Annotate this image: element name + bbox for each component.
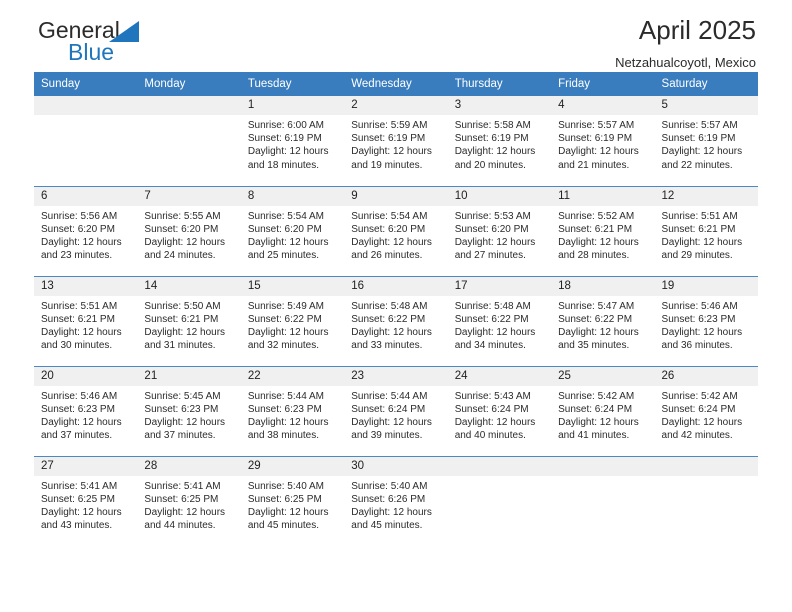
sunrise-text: Sunrise: 5:45 AM bbox=[144, 390, 234, 403]
calendar-day-cell[interactable]: 27Sunrise: 5:41 AMSunset: 6:25 PMDayligh… bbox=[34, 456, 137, 546]
sunset-text: Sunset: 6:24 PM bbox=[351, 403, 441, 416]
day-number: 4 bbox=[551, 96, 654, 115]
daylight-text: Daylight: 12 hours and 27 minutes. bbox=[455, 236, 545, 262]
calendar-day-cell-empty bbox=[448, 456, 551, 546]
calendar-week-row: 1Sunrise: 6:00 AMSunset: 6:19 PMDaylight… bbox=[34, 96, 758, 186]
calendar-day-cell[interactable]: 30Sunrise: 5:40 AMSunset: 6:26 PMDayligh… bbox=[344, 456, 447, 546]
day-number: 7 bbox=[137, 187, 240, 206]
sunset-text: Sunset: 6:19 PM bbox=[351, 132, 441, 145]
sunset-text: Sunset: 6:20 PM bbox=[248, 223, 338, 236]
calendar-day-cell-empty bbox=[34, 96, 137, 186]
daylight-text: Daylight: 12 hours and 26 minutes. bbox=[351, 236, 441, 262]
calendar-day-cell[interactable]: 22Sunrise: 5:44 AMSunset: 6:23 PMDayligh… bbox=[241, 366, 344, 456]
sunrise-text: Sunrise: 5:56 AM bbox=[41, 210, 131, 223]
daylight-text: Daylight: 12 hours and 45 minutes. bbox=[351, 506, 441, 532]
day-details: Sunrise: 5:44 AMSunset: 6:24 PMDaylight:… bbox=[344, 386, 447, 443]
sunrise-text: Sunrise: 5:44 AM bbox=[248, 390, 338, 403]
sunrise-text: Sunrise: 5:46 AM bbox=[662, 300, 752, 313]
sunset-text: Sunset: 6:23 PM bbox=[144, 403, 234, 416]
daylight-text: Daylight: 12 hours and 21 minutes. bbox=[558, 145, 648, 171]
day-number: 2 bbox=[344, 96, 447, 115]
daylight-text: Daylight: 12 hours and 41 minutes. bbox=[558, 416, 648, 442]
sunset-text: Sunset: 6:21 PM bbox=[41, 313, 131, 326]
day-details: Sunrise: 5:49 AMSunset: 6:22 PMDaylight:… bbox=[241, 296, 344, 353]
sunrise-text: Sunrise: 5:41 AM bbox=[144, 480, 234, 493]
calendar-week-row: 27Sunrise: 5:41 AMSunset: 6:25 PMDayligh… bbox=[34, 456, 758, 546]
weekday-header-wednesday: Wednesday bbox=[344, 72, 447, 96]
weekday-header-thursday: Thursday bbox=[448, 72, 551, 96]
calendar-header-row: Sunday Monday Tuesday Wednesday Thursday… bbox=[34, 72, 758, 96]
sunrise-text: Sunrise: 5:57 AM bbox=[662, 119, 752, 132]
day-details: Sunrise: 5:46 AMSunset: 6:23 PMDaylight:… bbox=[655, 296, 758, 353]
day-details: Sunrise: 5:57 AMSunset: 6:19 PMDaylight:… bbox=[655, 115, 758, 172]
weekday-header-monday: Monday bbox=[137, 72, 240, 96]
blue-triangle-flag-icon bbox=[109, 21, 139, 42]
calendar-day-cell-empty bbox=[655, 456, 758, 546]
page-header: General Blue April 2025 Netzahualcoyotl,… bbox=[34, 0, 758, 72]
weekday-header-friday: Friday bbox=[551, 72, 654, 96]
calendar-day-cell[interactable]: 23Sunrise: 5:44 AMSunset: 6:24 PMDayligh… bbox=[344, 366, 447, 456]
day-number: 1 bbox=[241, 96, 344, 115]
day-number: 14 bbox=[137, 277, 240, 296]
daylight-text: Daylight: 12 hours and 31 minutes. bbox=[144, 326, 234, 352]
day-details: Sunrise: 5:47 AMSunset: 6:22 PMDaylight:… bbox=[551, 296, 654, 353]
day-number: 29 bbox=[241, 457, 344, 476]
daylight-text: Daylight: 12 hours and 37 minutes. bbox=[41, 416, 131, 442]
calendar-day-cell[interactable]: 3Sunrise: 5:58 AMSunset: 6:19 PMDaylight… bbox=[448, 96, 551, 186]
sunrise-text: Sunrise: 5:47 AM bbox=[558, 300, 648, 313]
day-number: 16 bbox=[344, 277, 447, 296]
sunset-text: Sunset: 6:21 PM bbox=[558, 223, 648, 236]
day-details: Sunrise: 5:42 AMSunset: 6:24 PMDaylight:… bbox=[551, 386, 654, 443]
daylight-text: Daylight: 12 hours and 44 minutes. bbox=[144, 506, 234, 532]
day-details: Sunrise: 5:44 AMSunset: 6:23 PMDaylight:… bbox=[241, 386, 344, 443]
day-details: Sunrise: 5:40 AMSunset: 6:26 PMDaylight:… bbox=[344, 476, 447, 533]
sunset-text: Sunset: 6:23 PM bbox=[41, 403, 131, 416]
day-number: 25 bbox=[551, 367, 654, 386]
sunrise-text: Sunrise: 5:48 AM bbox=[455, 300, 545, 313]
sunset-text: Sunset: 6:24 PM bbox=[455, 403, 545, 416]
calendar-day-cell-empty bbox=[137, 96, 240, 186]
sunrise-text: Sunrise: 5:57 AM bbox=[558, 119, 648, 132]
sunrise-text: Sunrise: 5:49 AM bbox=[248, 300, 338, 313]
day-details: Sunrise: 5:41 AMSunset: 6:25 PMDaylight:… bbox=[34, 476, 137, 533]
day-number: 22 bbox=[241, 367, 344, 386]
day-number: 24 bbox=[448, 367, 551, 386]
page-title: April 2025 bbox=[615, 14, 756, 46]
sunset-text: Sunset: 6:21 PM bbox=[662, 223, 752, 236]
day-details: Sunrise: 5:51 AMSunset: 6:21 PMDaylight:… bbox=[34, 296, 137, 353]
calendar-day-cell[interactable]: 4Sunrise: 5:57 AMSunset: 6:19 PMDaylight… bbox=[551, 96, 654, 186]
sunrise-text: Sunrise: 5:55 AM bbox=[144, 210, 234, 223]
calendar-day-cell[interactable]: 12Sunrise: 5:51 AMSunset: 6:21 PMDayligh… bbox=[655, 186, 758, 276]
sunset-text: Sunset: 6:23 PM bbox=[662, 313, 752, 326]
day-details: Sunrise: 5:59 AMSunset: 6:19 PMDaylight:… bbox=[344, 115, 447, 172]
calendar-day-cell[interactable]: 17Sunrise: 5:48 AMSunset: 6:22 PMDayligh… bbox=[448, 276, 551, 366]
calendar-day-cell[interactable]: 9Sunrise: 5:54 AMSunset: 6:20 PMDaylight… bbox=[344, 186, 447, 276]
daylight-text: Daylight: 12 hours and 35 minutes. bbox=[558, 326, 648, 352]
day-number: 8 bbox=[241, 187, 344, 206]
daylight-text: Daylight: 12 hours and 39 minutes. bbox=[351, 416, 441, 442]
sunset-text: Sunset: 6:19 PM bbox=[455, 132, 545, 145]
sunset-text: Sunset: 6:24 PM bbox=[558, 403, 648, 416]
day-details: Sunrise: 5:48 AMSunset: 6:22 PMDaylight:… bbox=[448, 296, 551, 353]
sunrise-text: Sunrise: 5:46 AM bbox=[41, 390, 131, 403]
day-number: 21 bbox=[137, 367, 240, 386]
day-number: 13 bbox=[34, 277, 137, 296]
daylight-text: Daylight: 12 hours and 28 minutes. bbox=[558, 236, 648, 262]
calendar-day-cell[interactable]: 13Sunrise: 5:51 AMSunset: 6:21 PMDayligh… bbox=[34, 276, 137, 366]
sunrise-text: Sunrise: 5:59 AM bbox=[351, 119, 441, 132]
day-number bbox=[34, 96, 137, 115]
calendar-day-cell-empty bbox=[551, 456, 654, 546]
day-details: Sunrise: 5:42 AMSunset: 6:24 PMDaylight:… bbox=[655, 386, 758, 443]
day-number: 15 bbox=[241, 277, 344, 296]
calendar-day-cell[interactable]: 10Sunrise: 5:53 AMSunset: 6:20 PMDayligh… bbox=[448, 186, 551, 276]
calendar-day-cell[interactable]: 20Sunrise: 5:46 AMSunset: 6:23 PMDayligh… bbox=[34, 366, 137, 456]
sunset-text: Sunset: 6:19 PM bbox=[662, 132, 752, 145]
sunset-text: Sunset: 6:22 PM bbox=[455, 313, 545, 326]
day-details: Sunrise: 5:51 AMSunset: 6:21 PMDaylight:… bbox=[655, 206, 758, 263]
sunrise-text: Sunrise: 5:58 AM bbox=[455, 119, 545, 132]
day-number bbox=[448, 457, 551, 476]
sunrise-text: Sunrise: 5:50 AM bbox=[144, 300, 234, 313]
sunrise-text: Sunrise: 5:53 AM bbox=[455, 210, 545, 223]
daylight-text: Daylight: 12 hours and 30 minutes. bbox=[41, 326, 131, 352]
sunrise-text: Sunrise: 5:42 AM bbox=[558, 390, 648, 403]
calendar-body: 1Sunrise: 6:00 AMSunset: 6:19 PMDaylight… bbox=[34, 96, 758, 546]
sunset-text: Sunset: 6:25 PM bbox=[41, 493, 131, 506]
calendar-week-row: 6Sunrise: 5:56 AMSunset: 6:20 PMDaylight… bbox=[34, 186, 758, 276]
sunrise-text: Sunrise: 6:00 AM bbox=[248, 119, 338, 132]
weekday-header-saturday: Saturday bbox=[655, 72, 758, 96]
sunrise-text: Sunrise: 5:42 AM bbox=[662, 390, 752, 403]
day-number: 3 bbox=[448, 96, 551, 115]
sunset-text: Sunset: 6:22 PM bbox=[248, 313, 338, 326]
sunrise-text: Sunrise: 5:51 AM bbox=[662, 210, 752, 223]
calendar-week-row: 20Sunrise: 5:46 AMSunset: 6:23 PMDayligh… bbox=[34, 366, 758, 456]
sunset-text: Sunset: 6:20 PM bbox=[455, 223, 545, 236]
day-number: 17 bbox=[448, 277, 551, 296]
brand-logo[interactable]: General Blue bbox=[38, 17, 258, 75]
day-details: Sunrise: 5:54 AMSunset: 6:20 PMDaylight:… bbox=[241, 206, 344, 263]
sunset-text: Sunset: 6:20 PM bbox=[144, 223, 234, 236]
day-details: Sunrise: 5:41 AMSunset: 6:25 PMDaylight:… bbox=[137, 476, 240, 533]
calendar-page: General Blue April 2025 Netzahualcoyotl,… bbox=[0, 0, 792, 612]
calendar-day-cell[interactable]: 18Sunrise: 5:47 AMSunset: 6:22 PMDayligh… bbox=[551, 276, 654, 366]
day-details: Sunrise: 5:45 AMSunset: 6:23 PMDaylight:… bbox=[137, 386, 240, 443]
sunrise-text: Sunrise: 5:43 AM bbox=[455, 390, 545, 403]
day-number: 27 bbox=[34, 457, 137, 476]
sunrise-text: Sunrise: 5:54 AM bbox=[351, 210, 441, 223]
daylight-text: Daylight: 12 hours and 33 minutes. bbox=[351, 326, 441, 352]
sunrise-text: Sunrise: 5:54 AM bbox=[248, 210, 338, 223]
sunset-text: Sunset: 6:22 PM bbox=[558, 313, 648, 326]
daylight-text: Daylight: 12 hours and 29 minutes. bbox=[662, 236, 752, 262]
calendar-day-cell[interactable]: 19Sunrise: 5:46 AMSunset: 6:23 PMDayligh… bbox=[655, 276, 758, 366]
calendar-day-cell[interactable]: 25Sunrise: 5:42 AMSunset: 6:24 PMDayligh… bbox=[551, 366, 654, 456]
daylight-text: Daylight: 12 hours and 25 minutes. bbox=[248, 236, 338, 262]
title-block: April 2025 Netzahualcoyotl, Mexico bbox=[615, 14, 756, 72]
calendar-day-cell[interactable]: 16Sunrise: 5:48 AMSunset: 6:22 PMDayligh… bbox=[344, 276, 447, 366]
daylight-text: Daylight: 12 hours and 37 minutes. bbox=[144, 416, 234, 442]
day-number: 12 bbox=[655, 187, 758, 206]
calendar-day-cell[interactable]: 7Sunrise: 5:55 AMSunset: 6:20 PMDaylight… bbox=[137, 186, 240, 276]
day-details: Sunrise: 5:54 AMSunset: 6:20 PMDaylight:… bbox=[344, 206, 447, 263]
calendar-day-cell[interactable]: 2Sunrise: 5:59 AMSunset: 6:19 PMDaylight… bbox=[344, 96, 447, 186]
daylight-text: Daylight: 12 hours and 19 minutes. bbox=[351, 145, 441, 171]
day-number: 9 bbox=[344, 187, 447, 206]
daylight-text: Daylight: 12 hours and 45 minutes. bbox=[248, 506, 338, 532]
day-details: Sunrise: 5:53 AMSunset: 6:20 PMDaylight:… bbox=[448, 206, 551, 263]
daylight-text: Daylight: 12 hours and 23 minutes. bbox=[41, 236, 131, 262]
location-subtitle: Netzahualcoyotl, Mexico bbox=[615, 54, 756, 72]
weekday-header-sunday: Sunday bbox=[34, 72, 137, 96]
sunset-text: Sunset: 6:20 PM bbox=[41, 223, 131, 236]
day-details: Sunrise: 5:40 AMSunset: 6:25 PMDaylight:… bbox=[241, 476, 344, 533]
daylight-text: Daylight: 12 hours and 40 minutes. bbox=[455, 416, 545, 442]
calendar-day-cell[interactable]: 11Sunrise: 5:52 AMSunset: 6:21 PMDayligh… bbox=[551, 186, 654, 276]
day-number: 19 bbox=[655, 277, 758, 296]
sunset-text: Sunset: 6:25 PM bbox=[248, 493, 338, 506]
daylight-text: Daylight: 12 hours and 38 minutes. bbox=[248, 416, 338, 442]
sunrise-text: Sunrise: 5:40 AM bbox=[351, 480, 441, 493]
daylight-text: Daylight: 12 hours and 34 minutes. bbox=[455, 326, 545, 352]
sunrise-text: Sunrise: 5:40 AM bbox=[248, 480, 338, 493]
daylight-text: Daylight: 12 hours and 18 minutes. bbox=[248, 145, 338, 171]
calendar-day-cell[interactable]: 26Sunrise: 5:42 AMSunset: 6:24 PMDayligh… bbox=[655, 366, 758, 456]
day-number: 30 bbox=[344, 457, 447, 476]
day-details: Sunrise: 5:55 AMSunset: 6:20 PMDaylight:… bbox=[137, 206, 240, 263]
calendar-day-cell[interactable]: 29Sunrise: 5:40 AMSunset: 6:25 PMDayligh… bbox=[241, 456, 344, 546]
sunrise-text: Sunrise: 5:44 AM bbox=[351, 390, 441, 403]
daylight-text: Daylight: 12 hours and 32 minutes. bbox=[248, 326, 338, 352]
calendar-day-cell[interactable]: 5Sunrise: 5:57 AMSunset: 6:19 PMDaylight… bbox=[655, 96, 758, 186]
day-number: 11 bbox=[551, 187, 654, 206]
daylight-text: Daylight: 12 hours and 20 minutes. bbox=[455, 145, 545, 171]
day-details: Sunrise: 5:58 AMSunset: 6:19 PMDaylight:… bbox=[448, 115, 551, 172]
calendar-day-cell[interactable]: 15Sunrise: 5:49 AMSunset: 6:22 PMDayligh… bbox=[241, 276, 344, 366]
day-number: 20 bbox=[34, 367, 137, 386]
day-number: 26 bbox=[655, 367, 758, 386]
sunset-text: Sunset: 6:24 PM bbox=[662, 403, 752, 416]
sunset-text: Sunset: 6:19 PM bbox=[248, 132, 338, 145]
day-number: 5 bbox=[655, 96, 758, 115]
day-number: 18 bbox=[551, 277, 654, 296]
sunset-text: Sunset: 6:22 PM bbox=[351, 313, 441, 326]
day-details: Sunrise: 5:52 AMSunset: 6:21 PMDaylight:… bbox=[551, 206, 654, 263]
sunset-text: Sunset: 6:25 PM bbox=[144, 493, 234, 506]
calendar-day-cell[interactable]: 8Sunrise: 5:54 AMSunset: 6:20 PMDaylight… bbox=[241, 186, 344, 276]
calendar-day-cell[interactable]: 14Sunrise: 5:50 AMSunset: 6:21 PMDayligh… bbox=[137, 276, 240, 366]
day-details: Sunrise: 5:57 AMSunset: 6:19 PMDaylight:… bbox=[551, 115, 654, 172]
day-number: 23 bbox=[344, 367, 447, 386]
day-details: Sunrise: 5:43 AMSunset: 6:24 PMDaylight:… bbox=[448, 386, 551, 443]
day-details: Sunrise: 5:48 AMSunset: 6:22 PMDaylight:… bbox=[344, 296, 447, 353]
day-number bbox=[137, 96, 240, 115]
sunrise-text: Sunrise: 5:52 AM bbox=[558, 210, 648, 223]
day-details: Sunrise: 5:46 AMSunset: 6:23 PMDaylight:… bbox=[34, 386, 137, 443]
sunrise-text: Sunrise: 5:48 AM bbox=[351, 300, 441, 313]
day-number bbox=[551, 457, 654, 476]
sunset-text: Sunset: 6:21 PM bbox=[144, 313, 234, 326]
calendar-day-cell[interactable]: 6Sunrise: 5:56 AMSunset: 6:20 PMDaylight… bbox=[34, 186, 137, 276]
day-details: Sunrise: 5:50 AMSunset: 6:21 PMDaylight:… bbox=[137, 296, 240, 353]
day-number bbox=[655, 457, 758, 476]
daylight-text: Daylight: 12 hours and 36 minutes. bbox=[662, 326, 752, 352]
day-details: Sunrise: 5:56 AMSunset: 6:20 PMDaylight:… bbox=[34, 206, 137, 263]
sunset-text: Sunset: 6:23 PM bbox=[248, 403, 338, 416]
sunset-text: Sunset: 6:20 PM bbox=[351, 223, 441, 236]
calendar-day-cell[interactable]: 24Sunrise: 5:43 AMSunset: 6:24 PMDayligh… bbox=[448, 366, 551, 456]
sunrise-text: Sunrise: 5:41 AM bbox=[41, 480, 131, 493]
day-number: 10 bbox=[448, 187, 551, 206]
daylight-text: Daylight: 12 hours and 22 minutes. bbox=[662, 145, 752, 171]
sunset-text: Sunset: 6:19 PM bbox=[558, 132, 648, 145]
sunset-text: Sunset: 6:26 PM bbox=[351, 493, 441, 506]
weekday-header-tuesday: Tuesday bbox=[241, 72, 344, 96]
day-number: 6 bbox=[34, 187, 137, 206]
sunrise-sunset-calendar: Sunday Monday Tuesday Wednesday Thursday… bbox=[34, 72, 758, 546]
daylight-text: Daylight: 12 hours and 24 minutes. bbox=[144, 236, 234, 262]
calendar-day-cell[interactable]: 28Sunrise: 5:41 AMSunset: 6:25 PMDayligh… bbox=[137, 456, 240, 546]
calendar-week-row: 13Sunrise: 5:51 AMSunset: 6:21 PMDayligh… bbox=[34, 276, 758, 366]
calendar-day-cell[interactable]: 21Sunrise: 5:45 AMSunset: 6:23 PMDayligh… bbox=[137, 366, 240, 456]
brand-name-blue: Blue bbox=[68, 40, 258, 64]
daylight-text: Daylight: 12 hours and 43 minutes. bbox=[41, 506, 131, 532]
daylight-text: Daylight: 12 hours and 42 minutes. bbox=[662, 416, 752, 442]
day-number: 28 bbox=[137, 457, 240, 476]
day-details: Sunrise: 6:00 AMSunset: 6:19 PMDaylight:… bbox=[241, 115, 344, 172]
calendar-day-cell[interactable]: 1Sunrise: 6:00 AMSunset: 6:19 PMDaylight… bbox=[241, 96, 344, 186]
sunrise-text: Sunrise: 5:51 AM bbox=[41, 300, 131, 313]
